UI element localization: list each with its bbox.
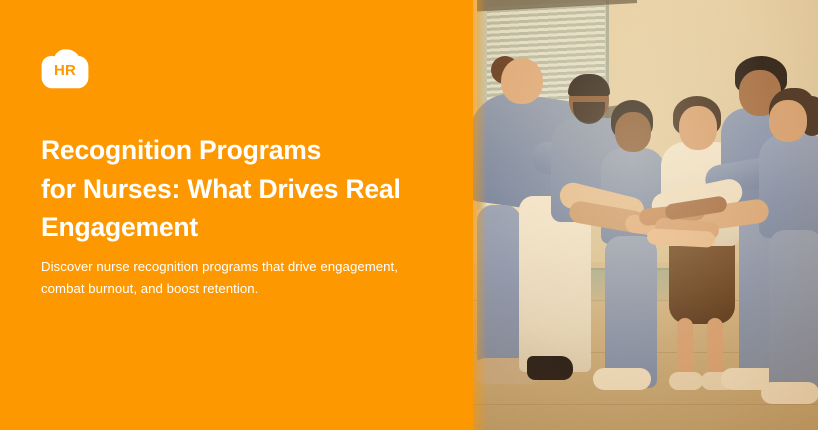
headline-line-1: Recognition Programs (41, 131, 441, 170)
photo-left-edge-blend (473, 0, 487, 430)
subtitle-line-2: combat burnout, and boost retention. (41, 278, 451, 300)
brand-logo-text: HR (41, 47, 89, 89)
page-subtitle: Discover nurse recognition programs that… (41, 256, 451, 300)
hero-image-panel (473, 0, 818, 430)
blog-hero-card: HR Recognition Programs for Nurses: What… (0, 0, 818, 430)
subtitle-line-1: Discover nurse recognition programs that… (41, 256, 451, 278)
headline-line-3: Engagement (41, 208, 441, 247)
team-huddle-photo (473, 0, 818, 430)
brand-logo[interactable]: HR (41, 47, 89, 89)
page-title: Recognition Programs for Nurses: What Dr… (41, 131, 441, 247)
photo-vignette (473, 0, 818, 430)
headline-line-2: for Nurses: What Drives Real (41, 170, 441, 209)
hero-text-panel: HR Recognition Programs for Nurses: What… (0, 0, 473, 430)
